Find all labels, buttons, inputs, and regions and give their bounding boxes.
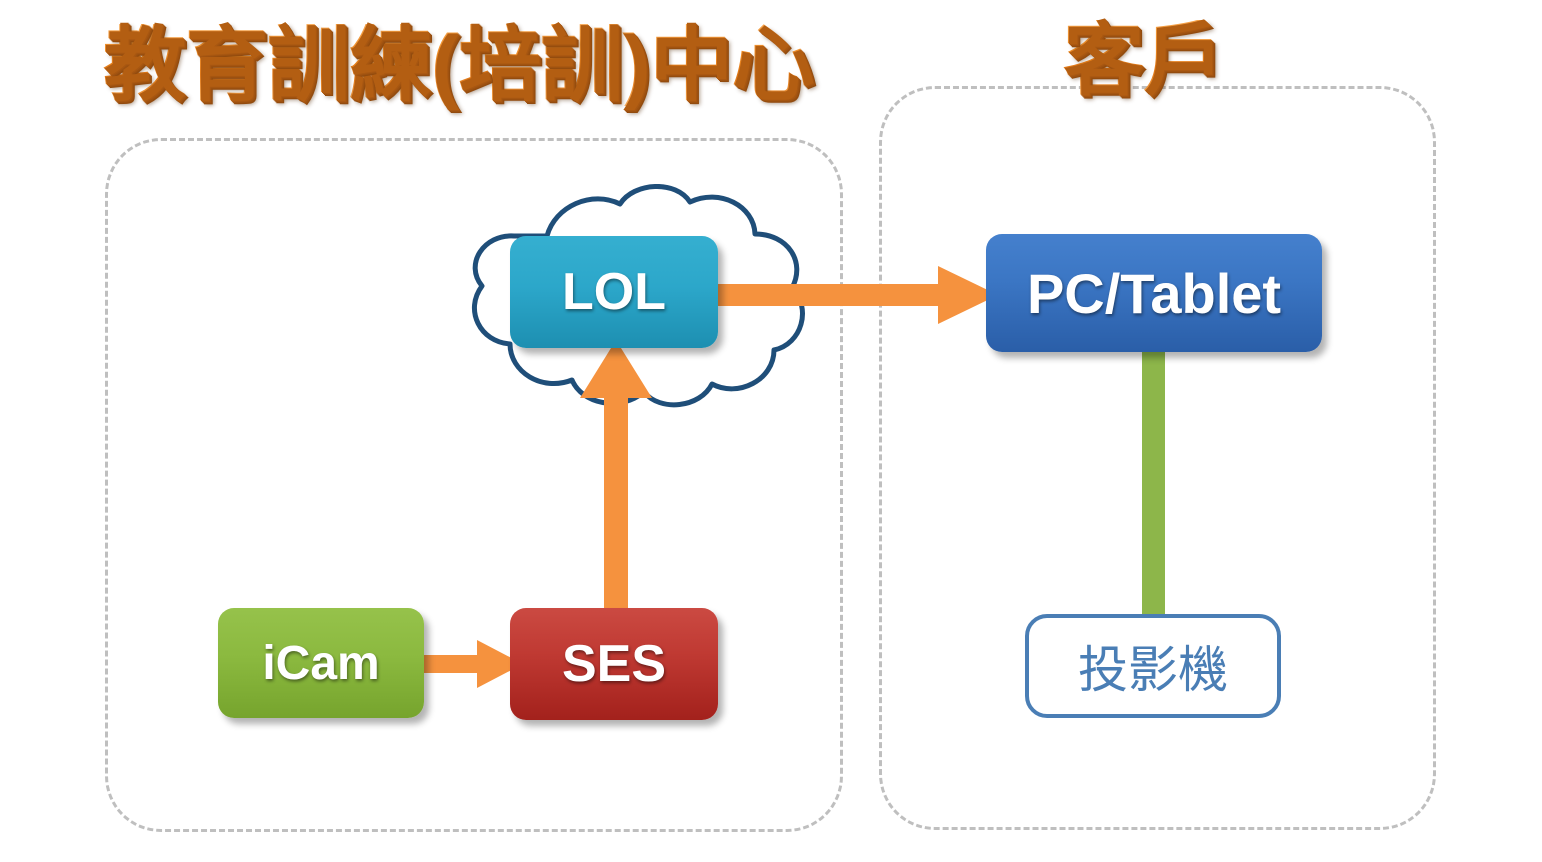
- zone-training-center-title: 教育訓練(培訓)中心: [103, 24, 814, 106]
- connector-ses-to-lol-arrow: [576, 338, 656, 620]
- node-ses[interactable]: SES: [510, 608, 718, 720]
- connector-pctablet-to-projector-line: [1142, 346, 1165, 618]
- node-pc-tablet-label: PC/Tablet: [1027, 261, 1281, 326]
- node-icam-label: iCam: [262, 636, 379, 691]
- node-projector[interactable]: 投影機: [1025, 614, 1281, 718]
- zone-customer-title: 客戶: [1063, 20, 1223, 100]
- node-pc-tablet[interactable]: PC/Tablet: [986, 234, 1322, 352]
- node-icam[interactable]: iCam: [218, 608, 424, 718]
- diagram-canvas: 教育訓練(培訓)中心 客戶 LOL PC/Tablet iCam SES: [0, 0, 1542, 862]
- node-projector-label: 投影機: [1078, 630, 1228, 702]
- node-ses-label: SES: [562, 634, 666, 694]
- connector-icam-to-ses-arrow: [415, 638, 525, 690]
- node-lol[interactable]: LOL: [510, 236, 718, 348]
- connector-lol-to-pctablet-arrow: [700, 264, 1000, 326]
- node-lol-label: LOL: [562, 262, 666, 322]
